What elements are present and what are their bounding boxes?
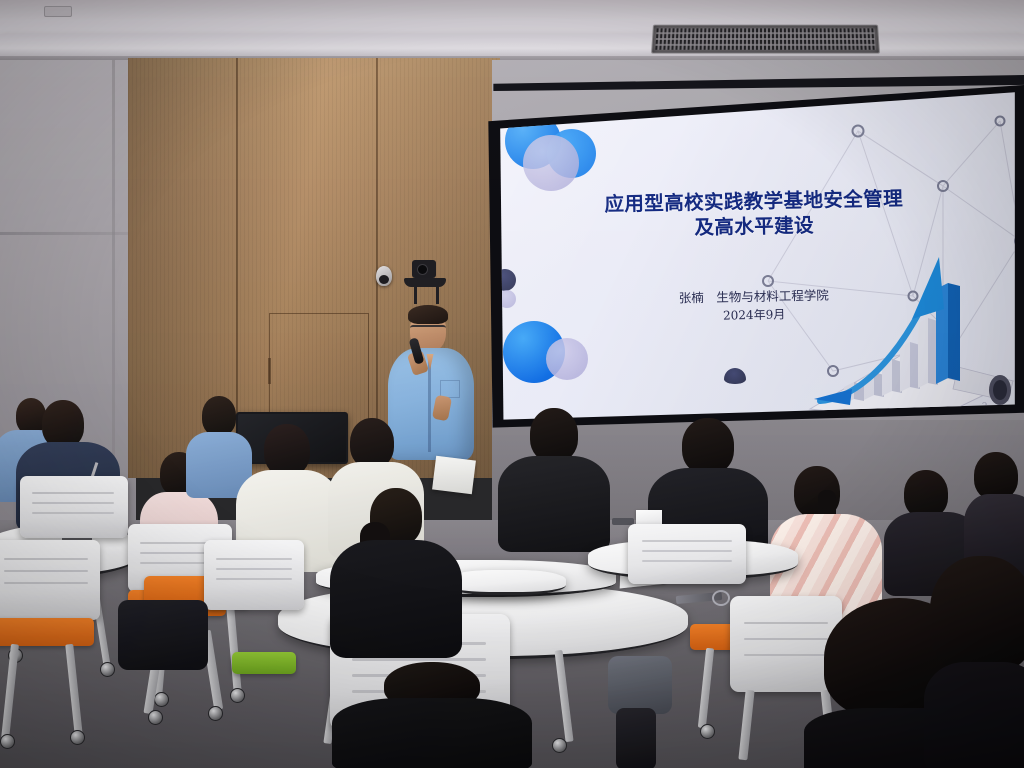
wall-camera-icon <box>412 260 436 278</box>
head <box>682 418 734 474</box>
vent-bars <box>655 28 875 49</box>
camera-bracket <box>404 278 446 287</box>
projection-screen: 应用型高校实践教学基地安全管理 及高水平建设 张楠 生物与材料工程学院 2024… <box>484 85 1024 430</box>
slide-circle-lavender-2 <box>546 338 588 380</box>
chair-slot <box>4 558 88 560</box>
presentation-slide: 应用型高校实践教学基地安全管理 及高水平建设 张楠 生物与材料工程学院 2024… <box>484 85 1024 430</box>
legs <box>608 656 672 714</box>
chair-slot <box>4 582 88 584</box>
torso <box>330 540 462 658</box>
attendee-foreground-right <box>930 556 1024 768</box>
dome-camera-icon <box>376 266 392 286</box>
chair-slot <box>216 568 292 570</box>
chair-seat-orange <box>0 618 94 646</box>
attendee-right-edge <box>964 452 1024 572</box>
chair-seat-green <box>232 652 296 674</box>
chair-back <box>20 476 128 538</box>
slide-circle-dark-2 <box>724 368 746 384</box>
chair-slot <box>32 492 114 494</box>
head <box>264 424 310 476</box>
air-vent-icon <box>651 25 880 54</box>
chair-slot <box>642 540 732 542</box>
camera-bracket-leg-1 <box>414 287 417 304</box>
chair-caster <box>700 724 715 739</box>
head <box>930 556 1024 672</box>
chair-slot <box>642 550 732 552</box>
head <box>904 470 948 518</box>
legs <box>118 600 208 670</box>
lecture-room-photo: 应用型高校实践教学基地安全管理 及高水平建设 张楠 生物与材料工程学院 2024… <box>0 0 1024 768</box>
attendee-seated-shorts <box>586 636 696 768</box>
chair-slot <box>352 658 486 661</box>
chair-slot <box>32 502 114 504</box>
attendee-seated-legs-left <box>108 600 228 768</box>
attendee-black-center-front <box>332 662 532 768</box>
glasses-icon <box>410 325 446 334</box>
chair-caster <box>70 730 85 745</box>
chair-slot <box>216 558 292 560</box>
table-center-caster-2 <box>552 738 567 753</box>
presenter-hair <box>408 305 448 324</box>
ceiling-sensor-icon <box>44 6 72 17</box>
table-mid-small <box>446 570 566 595</box>
growth-chart-icon <box>808 249 1018 424</box>
chair-slot <box>32 512 114 514</box>
head <box>974 452 1018 500</box>
head <box>202 396 236 436</box>
camera-bracket-leg-2 <box>436 287 439 304</box>
table-object-keyring <box>712 590 730 606</box>
torso <box>498 456 610 552</box>
attendee-left-white <box>330 488 462 658</box>
lower-legs <box>616 708 656 768</box>
chair-caster <box>0 734 15 749</box>
chair-slot <box>642 560 732 562</box>
slide-circle-lavender-1 <box>523 135 579 191</box>
attendee-pink-stripe <box>770 466 882 614</box>
torso <box>924 662 1024 768</box>
shirt-placket <box>428 354 431 452</box>
chair-back <box>0 540 100 620</box>
left-wall-seam <box>0 232 136 235</box>
slide-title: 应用型高校实践教学基地安全管理 及高水平建设 <box>484 184 1024 245</box>
chair-back <box>628 524 746 584</box>
attendee-black-tee-left <box>498 408 610 544</box>
head <box>350 418 394 468</box>
head <box>42 400 84 448</box>
chair-slot <box>216 578 292 580</box>
head <box>530 408 578 462</box>
torso <box>332 698 532 768</box>
chair-slot <box>4 570 88 572</box>
chair-caster <box>230 688 245 703</box>
